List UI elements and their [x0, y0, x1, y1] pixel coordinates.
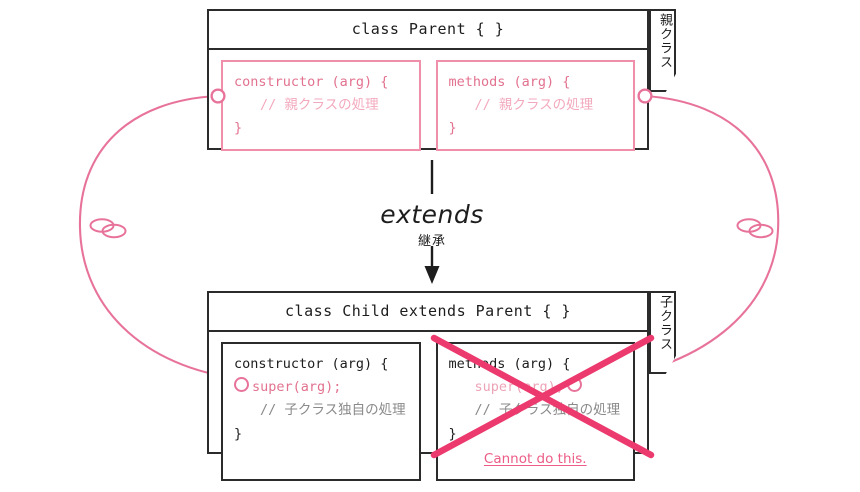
chain-link-icon — [738, 219, 773, 237]
child-class-tab-label: 子クラス — [651, 293, 676, 351]
child-class-header: class Child extends Parent { } — [209, 293, 647, 332]
code-line-comment: // 子クラス独自の処理 — [449, 399, 623, 422]
parent-class-box: class Parent { } constructor (arg) { // … — [207, 9, 649, 150]
chain-link-icon — [91, 219, 126, 237]
code-line-signature: constructor (arg) { — [234, 353, 408, 376]
code-line-close: } — [234, 117, 408, 140]
parent-methods-block: methods (arg) { // 親クラスの処理 } — [436, 60, 636, 151]
code-line-close: } — [449, 117, 623, 140]
code-line-signature: methods (arg) { — [449, 353, 623, 376]
extends-translation: 継承 — [352, 230, 512, 249]
child-class-tab: 子クラス — [649, 291, 676, 374]
code-line-signature: constructor (arg) { — [234, 71, 408, 94]
code-line-close: } — [234, 423, 408, 446]
code-line-comment: // 親クラスの処理 — [449, 94, 623, 117]
code-line-signature: methods (arg) { — [449, 71, 623, 94]
child-methods-block: methods (arg) { super(arg); // 子クラス独自の処理… — [436, 342, 636, 481]
cannot-do-this-annotation: Cannot do this. — [449, 448, 623, 471]
parent-class-body: constructor (arg) { // 親クラスの処理 } methods… — [209, 50, 647, 162]
link-endpoint-dot — [234, 377, 249, 392]
code-line-super: super(arg); — [475, 379, 564, 395]
child-class-box: class Child extends Parent { } construct… — [207, 291, 649, 454]
code-line-super: super(arg); — [252, 379, 341, 395]
code-line-comment: // 親クラスの処理 — [234, 94, 408, 117]
parent-class-tab: 親クラス — [649, 9, 676, 92]
extends-keyword: extends — [352, 200, 512, 229]
extends-relation: extends 継承 — [352, 160, 512, 285]
code-line-close: } — [449, 423, 623, 446]
link-endpoint-dot — [567, 377, 582, 392]
diagram-canvas: class Parent { } constructor (arg) { // … — [0, 0, 860, 463]
parent-constructor-block: constructor (arg) { // 親クラスの処理 } — [221, 60, 421, 151]
parent-class-header: class Parent { } — [209, 11, 647, 50]
parent-class-tab-label: 親クラス — [651, 11, 676, 69]
child-constructor-block: constructor (arg) { super(arg); // 子クラス独… — [221, 342, 421, 481]
child-class-body: constructor (arg) { super(arg); // 子クラス独… — [209, 332, 647, 492]
code-line-comment: // 子クラス独自の処理 — [234, 399, 408, 422]
